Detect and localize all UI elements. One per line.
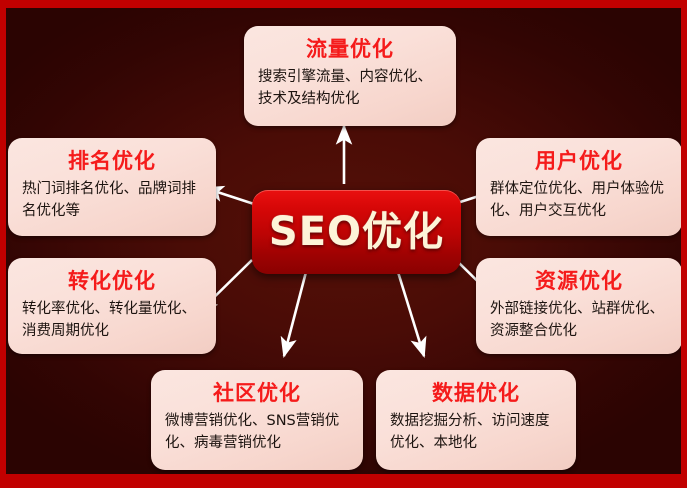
- card-title-conversion: 转化优化: [22, 268, 202, 294]
- diagram-stage: 流量优化 搜索引擎流量、内容优化、技术及结构优化 排名优化 热门词排名优化、品牌…: [6, 8, 681, 474]
- card-desc-ranking: 热门词排名优化、品牌词排名优化等: [22, 179, 202, 223]
- card-title-ranking: 排名优化: [22, 148, 202, 174]
- node-card-resource[interactable]: 资源优化 外部链接优化、站群优化、资源整合优化: [476, 258, 681, 354]
- node-card-conversion[interactable]: 转化优化 转化率优化、转化量优化、消费周期优化: [8, 258, 216, 354]
- center-node-seo[interactable]: SEO优化: [252, 190, 461, 274]
- node-card-user[interactable]: 用户优化 群体定位优化、用户体验优化、用户交互优化: [476, 138, 681, 236]
- card-desc-traffic: 搜索引擎流量、内容优化、技术及结构优化: [258, 67, 442, 111]
- card-title-community: 社区优化: [165, 380, 349, 406]
- card-title-traffic: 流量优化: [258, 36, 442, 62]
- card-desc-user: 群体定位优化、用户体验优化、用户交互优化: [490, 179, 668, 223]
- card-title-user: 用户优化: [490, 148, 668, 174]
- card-desc-resource: 外部链接优化、站群优化、资源整合优化: [490, 299, 668, 343]
- card-title-data: 数据优化: [390, 380, 562, 406]
- card-desc-data: 数据挖掘分析、访问速度优化、本地化: [390, 411, 562, 455]
- node-card-ranking[interactable]: 排名优化 热门词排名优化、品牌词排名优化等: [8, 138, 216, 236]
- card-desc-conversion: 转化率优化、转化量优化、消费周期优化: [22, 299, 202, 343]
- card-desc-community: 微博营销优化、SNS营销优化、病毒营销优化: [165, 411, 349, 455]
- card-title-resource: 资源优化: [490, 268, 668, 294]
- node-card-traffic[interactable]: 流量优化 搜索引擎流量、内容优化、技术及结构优化: [244, 26, 456, 126]
- center-node-label: SEO优化: [269, 212, 444, 252]
- seo-mindmap-diagram: 流量优化 搜索引擎流量、内容优化、技术及结构优化 排名优化 热门词排名优化、品牌…: [0, 0, 687, 488]
- arrow-to-data: [398, 272, 424, 356]
- node-card-data[interactable]: 数据优化 数据挖掘分析、访问速度优化、本地化: [376, 370, 576, 470]
- arrow-to-community: [284, 272, 306, 356]
- node-card-community[interactable]: 社区优化 微博营销优化、SNS营销优化、病毒营销优化: [151, 370, 363, 470]
